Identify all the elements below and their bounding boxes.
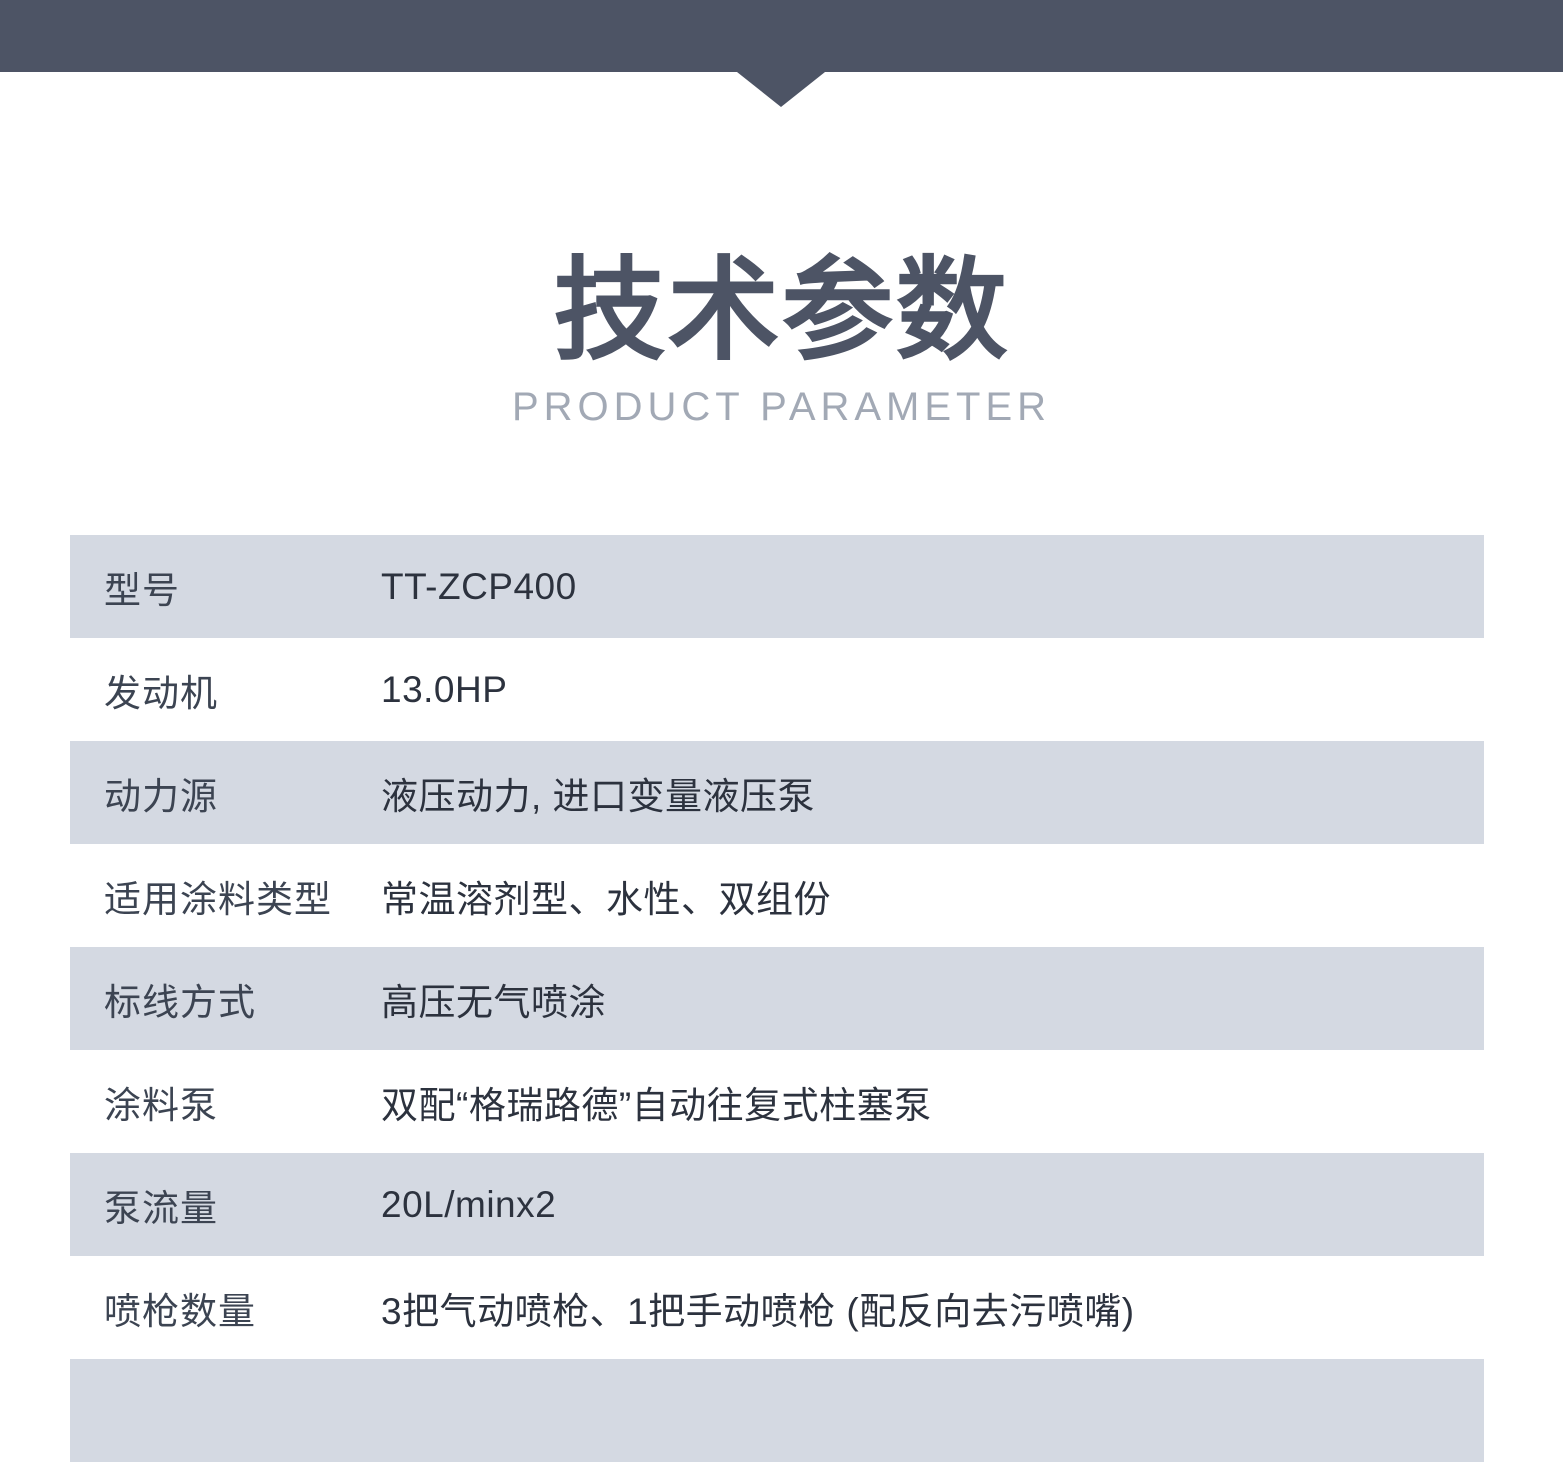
page-title-block: 技术参数 PRODUCT PARAMETER <box>0 252 1563 427</box>
table-row <box>0 1359 1563 1462</box>
param-label: 标线方式 <box>0 972 381 1026</box>
param-value: 液压动力, 进口变量液压泵 <box>381 766 815 820</box>
param-value: 高压无气喷涂 <box>381 972 606 1026</box>
param-value: 13.0HP <box>381 669 507 711</box>
param-value: 3把气动喷枪、1把手动喷枪 (配反向去污喷嘴) <box>381 1281 1135 1335</box>
param-value: TT-ZCP400 <box>381 566 577 608</box>
table-row: 型号TT-ZCP400 <box>0 535 1563 638</box>
table-row: 动力源液压动力, 进口变量液压泵 <box>0 741 1563 844</box>
param-label: 动力源 <box>0 766 381 820</box>
page-title: 技术参数 <box>0 252 1563 371</box>
param-value: 20L/minx2 <box>381 1184 556 1226</box>
parameter-table: 型号TT-ZCP400发动机13.0HP动力源液压动力, 进口变量液压泵适用涂料… <box>0 535 1563 1462</box>
table-row: 喷枪数量3把气动喷枪、1把手动喷枪 (配反向去污喷嘴) <box>0 1256 1563 1359</box>
param-label: 发动机 <box>0 663 381 717</box>
param-label: 涂料泵 <box>0 1075 381 1129</box>
page-subtitle: PRODUCT PARAMETER <box>0 387 1563 427</box>
param-value: 双配“格瑞路德”自动往复式柱塞泵 <box>381 1075 932 1129</box>
param-label: 泵流量 <box>0 1178 381 1232</box>
header-band <box>0 0 1563 72</box>
table-row: 发动机13.0HP <box>0 638 1563 741</box>
param-label: 喷枪数量 <box>0 1281 381 1335</box>
param-label: 适用涂料类型 <box>0 869 381 923</box>
triangle-down-notch-icon <box>737 72 825 107</box>
param-value: 常温溶剂型、水性、双组份 <box>381 869 831 923</box>
table-row: 涂料泵双配“格瑞路德”自动往复式柱塞泵 <box>0 1050 1563 1153</box>
param-label: 型号 <box>0 560 381 614</box>
table-row: 适用涂料类型常温溶剂型、水性、双组份 <box>0 844 1563 947</box>
table-row: 泵流量20L/minx2 <box>0 1153 1563 1256</box>
table-row: 标线方式高压无气喷涂 <box>0 947 1563 1050</box>
